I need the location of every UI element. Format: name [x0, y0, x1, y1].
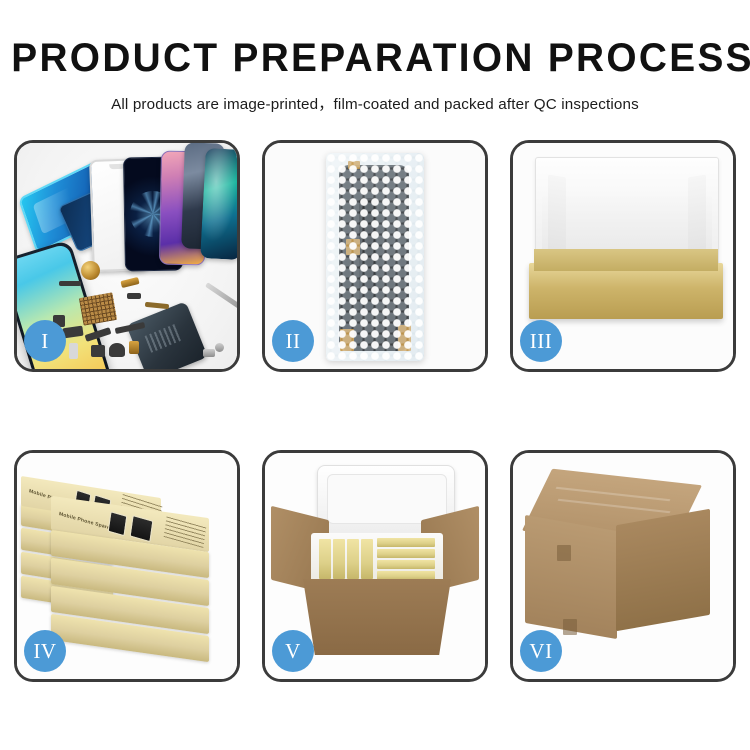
- step-2-photo: II: [265, 143, 485, 369]
- step-1-photo: I: [17, 143, 237, 369]
- lid-flap-left: [548, 175, 566, 256]
- component-grid-part: [79, 292, 117, 325]
- step-badge: I: [24, 320, 66, 362]
- process-step-panel-6[interactable]: VI: [510, 450, 736, 682]
- speaker-part: [81, 261, 100, 280]
- page-header: PRODUCT PREPARATION PROCESS All products…: [0, 0, 750, 114]
- step-badge: V: [272, 630, 314, 672]
- small-part: [203, 349, 215, 357]
- step-3-photo: III: [513, 143, 733, 369]
- page-subtitle: All products are image-printed，film-coat…: [0, 92, 750, 114]
- box-spec-lines: [164, 515, 207, 547]
- step-badge: III: [520, 320, 562, 362]
- process-step-panel-4[interactable]: Mobile Phone Spare Parts Mobile Phone Sp…: [14, 450, 240, 682]
- carton-right-face: [616, 509, 710, 632]
- process-steps-grid: I II: [14, 140, 736, 682]
- step-5-photo: V: [265, 453, 485, 679]
- page-title: PRODUCT PREPARATION PROCESS: [11, 38, 739, 78]
- bubble-texture: [326, 153, 424, 361]
- small-part: [91, 345, 105, 357]
- packed-box: [377, 571, 435, 580]
- small-part: [127, 293, 141, 299]
- process-step-panel-2[interactable]: II: [262, 140, 488, 372]
- kraft-box-tray: [529, 263, 723, 319]
- small-part: [59, 281, 81, 286]
- small-part: [69, 343, 78, 359]
- packed-box: [333, 539, 345, 579]
- packed-box: [319, 539, 331, 579]
- product-preparation-page: PRODUCT PREPARATION PROCESS All products…: [0, 0, 750, 750]
- box-screen-image: [108, 511, 128, 536]
- small-part: [215, 343, 224, 352]
- process-step-panel-5[interactable]: V: [262, 450, 488, 682]
- box-screen-image: [130, 515, 154, 542]
- step-4-photo: Mobile Phone Spare Parts Mobile Phone Sp…: [17, 453, 237, 679]
- packed-box: [361, 539, 373, 579]
- foam-liner: [311, 533, 443, 583]
- small-part: [129, 341, 139, 354]
- step-badge: II: [272, 320, 314, 362]
- packed-box: [377, 549, 435, 558]
- process-step-panel-1[interactable]: I: [14, 140, 240, 372]
- step-badge: IV: [24, 630, 66, 672]
- step-badge: VI: [520, 630, 562, 672]
- teal-display-screen: [200, 148, 237, 260]
- carton-tape: [557, 545, 571, 561]
- carton-body: [303, 579, 451, 655]
- bubble-wrap-package: [326, 153, 424, 361]
- small-part: [109, 343, 125, 357]
- packed-box: [347, 539, 359, 579]
- step-6-photo: VI: [513, 453, 733, 679]
- carton-tape: [563, 619, 577, 635]
- packed-box: [377, 538, 435, 547]
- process-step-panel-3[interactable]: III: [510, 140, 736, 372]
- lid-flap-right: [688, 175, 706, 256]
- packed-box: [377, 560, 435, 569]
